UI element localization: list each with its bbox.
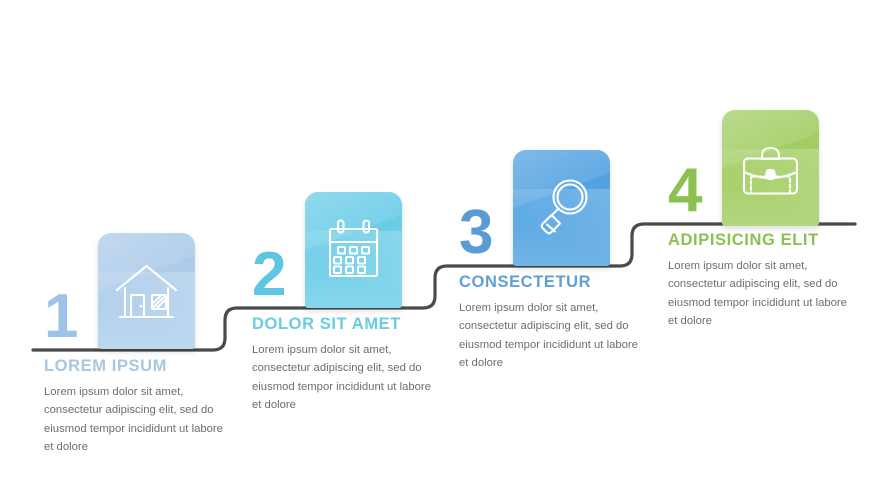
step-4-description: Lorem ipsum dolor sit amet, consectetur … <box>668 257 858 330</box>
step-4-text: ADIPISICING ELIT Lorem ipsum dolor sit a… <box>668 231 858 330</box>
step-1-number: 1 <box>44 286 77 348</box>
step-1-title: LOREM IPSUM <box>44 357 234 376</box>
step-1-text: LOREM IPSUM Lorem ipsum dolor sit amet, … <box>44 357 234 456</box>
step-3-description: Lorem ipsum dolor sit amet, consectetur … <box>459 299 649 372</box>
infographic-canvas: 1 LOREM IPSUM Lorem ipsum dolor sit amet… <box>0 0 883 500</box>
calendar-icon <box>305 192 402 308</box>
step-2-title: DOLOR SIT AMET <box>252 315 442 334</box>
step-4-icon-card[interactable] <box>722 110 819 226</box>
step-2-text: DOLOR SIT AMET Lorem ipsum dolor sit ame… <box>252 315 442 414</box>
step-2-description: Lorem ipsum dolor sit amet, consectetur … <box>252 341 442 414</box>
step-2-number: 2 <box>252 244 285 306</box>
step-1-icon-card[interactable] <box>98 233 195 349</box>
step-3-text: CONSECTETUR Lorem ipsum dolor sit amet, … <box>459 273 649 372</box>
magnifier-icon <box>513 150 610 266</box>
house-icon <box>98 233 195 349</box>
step-3-title: CONSECTETUR <box>459 273 649 292</box>
briefcase-icon <box>722 110 819 226</box>
step-1-description: Lorem ipsum dolor sit amet, consectetur … <box>44 383 234 456</box>
step-2-icon-card[interactable] <box>305 192 402 308</box>
step-4-title: ADIPISICING ELIT <box>668 231 858 250</box>
step-3-icon-card[interactable] <box>513 150 610 266</box>
step-3-number: 3 <box>459 202 492 264</box>
step-4-number: 4 <box>668 160 701 222</box>
